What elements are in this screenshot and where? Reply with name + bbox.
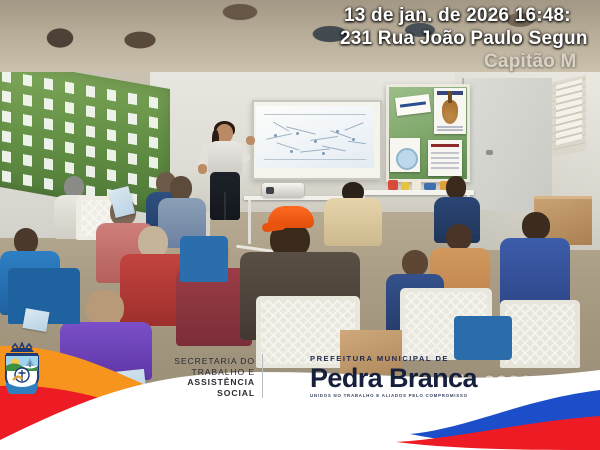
- chair-blue: [180, 236, 228, 282]
- secretaria-lockup: SECRETARIA DO TRABALHO E ASSISTÊNCIA SOC…: [150, 356, 255, 398]
- bottom-banner: SECRETARIA DO TRABALHO E ASSISTÊNCIA SOC…: [0, 342, 600, 450]
- banner-divider: [262, 354, 263, 398]
- map-lines: [256, 106, 374, 168]
- secretaria-line-1: SECRETARIA DO: [150, 356, 255, 367]
- window-slot: [556, 79, 582, 145]
- screenshot-root: 13 de jan. de 2026 16:48: 231 Rua João P…: [0, 0, 600, 450]
- floor-feet-strip: [0, 0, 600, 72]
- projected-map: [256, 106, 374, 168]
- prefeitura-tagline: UNIDOS NO TRABALHO E ALIADOS PELO COMPRO…: [310, 393, 477, 398]
- prefeitura-name: Pedra Branca: [310, 364, 477, 392]
- secretaria-line-4: SOCIAL: [150, 388, 255, 399]
- poster-circle: [390, 138, 420, 172]
- pedra-branca-coat-of-arms-icon: [0, 342, 44, 394]
- prefeitura-eyebrow: PREFEITURA MUNICIPAL DE: [310, 354, 477, 363]
- secretaria-line-3: ASSISTÊNCIA: [150, 377, 255, 388]
- door-knob: [486, 150, 493, 155]
- prefeitura-lockup: PREFEITURA MUNICIPAL DE Pedra Branca UNI…: [310, 354, 477, 398]
- secretaria-line-2: TRABALHO E: [150, 367, 255, 378]
- projector: [262, 183, 304, 197]
- leaflet: [22, 308, 49, 332]
- poster-text: [428, 140, 462, 176]
- poster-violao-popular: [434, 88, 466, 134]
